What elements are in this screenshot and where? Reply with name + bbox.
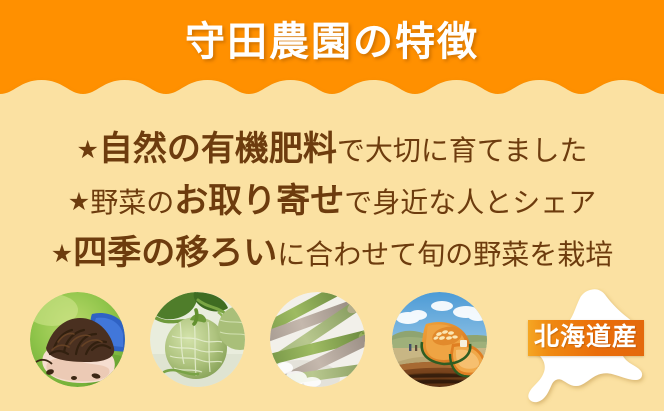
feature-line-1: ★自然の有機肥料で大切に育てました <box>0 124 664 176</box>
photo-compost-soil-in-hands <box>30 292 125 387</box>
star-icon: ★ <box>51 241 73 268</box>
feature-2-rest: で身近な人とシェア <box>344 188 596 219</box>
promo-banner: 守田農園の特徴 ★自然の有機肥料で大切に育てました ★野菜のお取り寄せで身近な人… <box>0 0 664 411</box>
feature-2-lead: 野菜の <box>90 188 174 219</box>
wave-divider-icon <box>0 76 664 118</box>
feature-1-emphasis: 自然の有機肥料 <box>99 131 337 168</box>
feature-line-3: ★四季の移ろいに合わせて旬の野菜を栽培 <box>0 228 664 280</box>
region-badge-label: 北海道産 <box>534 320 638 356</box>
region-badge: 北海道産 <box>528 320 644 356</box>
photo-melon-on-vine <box>150 292 245 387</box>
page-title: 守田農園の特徴 <box>0 18 664 66</box>
feature-2-emphasis: お取り寄せ <box>174 183 344 220</box>
feature-1-rest: で大切に育てました <box>337 136 588 167</box>
photo-cut-pumpkin-on-table <box>392 292 487 387</box>
star-icon: ★ <box>76 137 98 164</box>
feature-3-rest: に合わせて旬の野菜を栽培 <box>277 240 613 271</box>
feature-line-2: ★野菜のお取り寄せで身近な人とシェア <box>0 176 664 228</box>
feature-3-emphasis: 四季の移ろい <box>73 235 277 272</box>
feature-list: ★自然の有機肥料で大切に育てました ★野菜のお取り寄せで身近な人とシェア ★四季… <box>0 124 664 280</box>
star-icon: ★ <box>68 189 90 216</box>
photo-asparagus-spears <box>270 292 365 387</box>
